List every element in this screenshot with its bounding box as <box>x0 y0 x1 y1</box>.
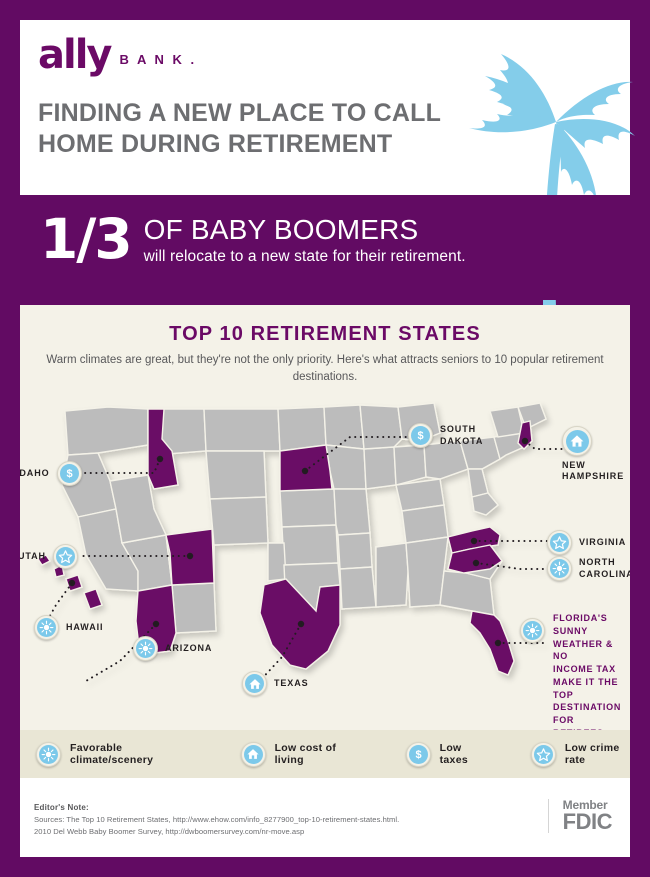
bank-wordmark: B A N K . <box>120 52 197 72</box>
callout-utah[interactable]: UTAH <box>20 544 78 569</box>
callout-arizona[interactable]: ARIZONA <box>133 636 212 661</box>
house-icon <box>562 426 592 456</box>
source-line-1: Sources: The Top 10 Retirement States, h… <box>34 814 399 826</box>
svg-text:$: $ <box>417 430 423 442</box>
stat-subline: will relocate to a new state for their r… <box>144 247 466 267</box>
star-icon <box>53 544 78 569</box>
callout-label: ARIZONA <box>165 643 212 654</box>
svg-text:$: $ <box>66 468 72 480</box>
dollar-icon: $ <box>57 461 82 486</box>
house-icon <box>242 671 267 696</box>
callout-texas[interactable]: TEXAS <box>242 671 309 696</box>
state-florida <box>470 611 514 675</box>
legend-label: Low cost of living <box>275 742 354 766</box>
stat-fraction: 1/3 <box>40 213 131 265</box>
sun-icon <box>133 636 158 661</box>
florida-callout-text: FLORIDA'S SUNNY WEATHER & NO INCOME TAX … <box>553 612 630 730</box>
legend-bar: Favorable climate/scenery Low cost of li… <box>20 730 630 778</box>
callout-hawaii[interactable]: HAWAII <box>34 615 103 640</box>
page-title: FINDING A NEW PLACE TO CALL HOME DURING … <box>38 98 468 159</box>
star-icon <box>547 530 572 555</box>
callout-label: SOUTH DAKOTA <box>440 424 483 447</box>
header-band: ally B A N K . FINDING A NEW PLACE TO CA… <box>20 20 630 195</box>
panel-title: TOP 10 RETIREMENT STATES <box>20 323 630 346</box>
dollar-icon: $ <box>406 742 431 767</box>
ally-bank-logo: ally B A N K . <box>38 38 197 72</box>
stat-headline: OF BABY BOOMERS <box>144 215 466 244</box>
legend-item-climate[interactable]: Favorable climate/scenery <box>36 742 189 767</box>
source-line-2: 2010 Del Webb Baby Boomer Survey, http:/… <box>34 826 399 838</box>
callout-label: VIRGINIA <box>579 537 626 548</box>
stat-band: 1/3 OF BABY BOOMERS will relocate to a n… <box>20 195 630 300</box>
sun-icon <box>520 618 545 643</box>
editors-note-label: Editor's Note: <box>34 803 89 812</box>
legend-item-crime[interactable]: Low crime rate <box>531 742 630 767</box>
sun-icon <box>36 742 61 767</box>
callout-north-carolina[interactable]: NORTH CAROLINA <box>547 556 630 581</box>
us-map: $ IDAHO UTAH HAWAII <box>20 393 630 730</box>
footer-band: Editor's Note: Sources: The Top 10 Retir… <box>20 778 630 857</box>
callout-label: NORTH CAROLINA <box>579 557 630 580</box>
callout-label: UTAH <box>20 551 46 562</box>
callout-florida[interactable]: FLORIDA'S SUNNY WEATHER & NO INCOME TAX … <box>520 612 630 730</box>
callout-new-hampshire[interactable]: NEW HAMPSHIRE <box>562 426 624 483</box>
member-fdic-logo: Member FDIC <box>548 799 612 833</box>
dollar-icon: $ <box>408 423 433 448</box>
ally-wordmark: ally <box>38 38 111 72</box>
callout-idaho[interactable]: $ IDAHO <box>20 461 82 486</box>
callout-label: NEW HAMPSHIRE <box>562 460 624 483</box>
legend-label: Favorable climate/scenery <box>70 742 189 766</box>
sources-block: Sources: The Top 10 Retirement States, h… <box>34 814 399 838</box>
panel-subtitle: Warm climates are great, but they're not… <box>20 352 630 387</box>
legend-item-cost[interactable]: Low cost of living <box>241 742 354 767</box>
callout-south-dakota[interactable]: $ SOUTH DAKOTA <box>408 423 483 448</box>
callout-label: HAWAII <box>66 622 103 633</box>
legend-label: Low taxes <box>440 742 483 766</box>
fdic-name-text: FDIC <box>563 811 612 833</box>
house-icon <box>241 742 266 767</box>
legend-item-taxes[interactable]: $ Low taxes <box>406 742 483 767</box>
callout-virginia[interactable]: VIRGINIA <box>547 530 626 555</box>
sun-icon <box>34 615 59 640</box>
legend-label: Low crime rate <box>565 742 630 766</box>
star-icon <box>531 742 556 767</box>
callout-label: IDAHO <box>20 468 50 479</box>
sun-icon <box>547 556 572 581</box>
map-panel: TOP 10 RETIREMENT STATES Warm climates a… <box>20 305 630 730</box>
callout-label: TEXAS <box>274 678 309 689</box>
svg-text:$: $ <box>415 749 421 761</box>
infographic-frame: ally B A N K . FINDING A NEW PLACE TO CA… <box>0 0 650 877</box>
